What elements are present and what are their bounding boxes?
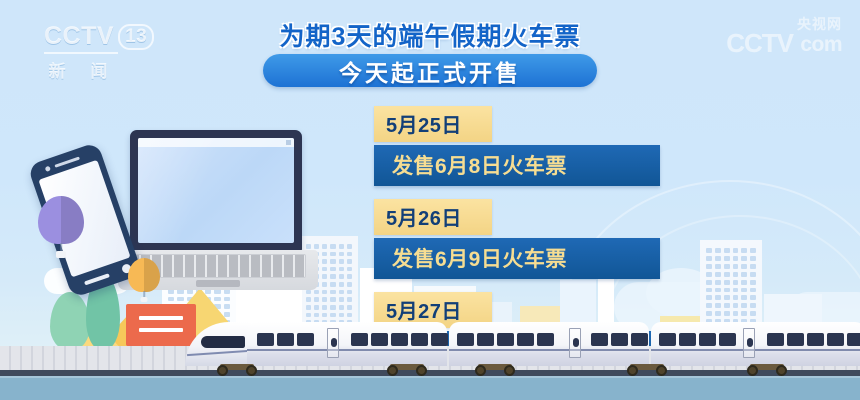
foreground-band bbox=[0, 376, 860, 400]
headline-sub-banner: 今天起正式开售 bbox=[263, 54, 597, 87]
train-nose bbox=[185, 322, 253, 366]
train-car bbox=[449, 322, 649, 366]
train-bogie bbox=[215, 363, 259, 376]
laptop-trackpad bbox=[196, 280, 240, 287]
cctv-channel-number: 13 bbox=[118, 24, 154, 50]
phone-bottom-bar bbox=[84, 273, 110, 285]
cctv-channel-label: 新 闻 bbox=[44, 57, 122, 82]
cctv-logo-underline bbox=[44, 52, 118, 54]
train-door bbox=[327, 328, 339, 358]
train-bogie bbox=[385, 363, 429, 376]
cctv-logo-text: CCTV bbox=[44, 22, 114, 51]
watermark-chinese-text: 央视网 bbox=[797, 16, 842, 32]
schedule-row: 5月26日 发售6月9日火车票 bbox=[374, 199, 674, 279]
schedule-date-chip: 5月25日 bbox=[374, 106, 492, 142]
train-bogie bbox=[745, 363, 789, 376]
laptop-lid bbox=[130, 130, 302, 252]
train-door bbox=[743, 328, 755, 358]
screen-glare bbox=[138, 138, 256, 243]
train-bogie bbox=[473, 363, 517, 376]
train-bogie bbox=[625, 363, 669, 376]
news-graphic-screen: CCTV 13 新 闻 CCTV 央视网 com 为期3天的端午假期火车票 今天… bbox=[0, 0, 860, 400]
train-door bbox=[569, 328, 581, 358]
watermark-com-text: com bbox=[800, 34, 842, 56]
schedule-sale-bar: 发售6月8日火车票 bbox=[374, 145, 660, 186]
orange-hot-air-balloon bbox=[128, 258, 160, 302]
headline-sub-text: 今天起正式开售 bbox=[339, 54, 521, 88]
phone-camera-icon bbox=[45, 166, 51, 172]
cctv-com-watermark: CCTV 央视网 com bbox=[726, 16, 842, 56]
train-car bbox=[651, 322, 860, 366]
cctv-13-logo: CCTV 13 新 闻 bbox=[44, 22, 164, 78]
laptop-screen bbox=[138, 138, 294, 243]
purple-hot-air-balloon bbox=[38, 196, 84, 258]
tree-illustration bbox=[50, 292, 90, 350]
schedule-date-chip: 5月26日 bbox=[374, 199, 492, 235]
high-speed-train-illustration bbox=[185, 318, 860, 376]
train-cab-window bbox=[201, 336, 245, 348]
train-nose-stripe bbox=[187, 350, 249, 356]
schedule-row: 5月25日 发售6月8日火车票 bbox=[374, 106, 674, 186]
schedule-sale-bar: 发售6月9日火车票 bbox=[374, 238, 660, 279]
train-car bbox=[247, 322, 447, 366]
watermark-cctv-text: CCTV bbox=[726, 30, 793, 56]
